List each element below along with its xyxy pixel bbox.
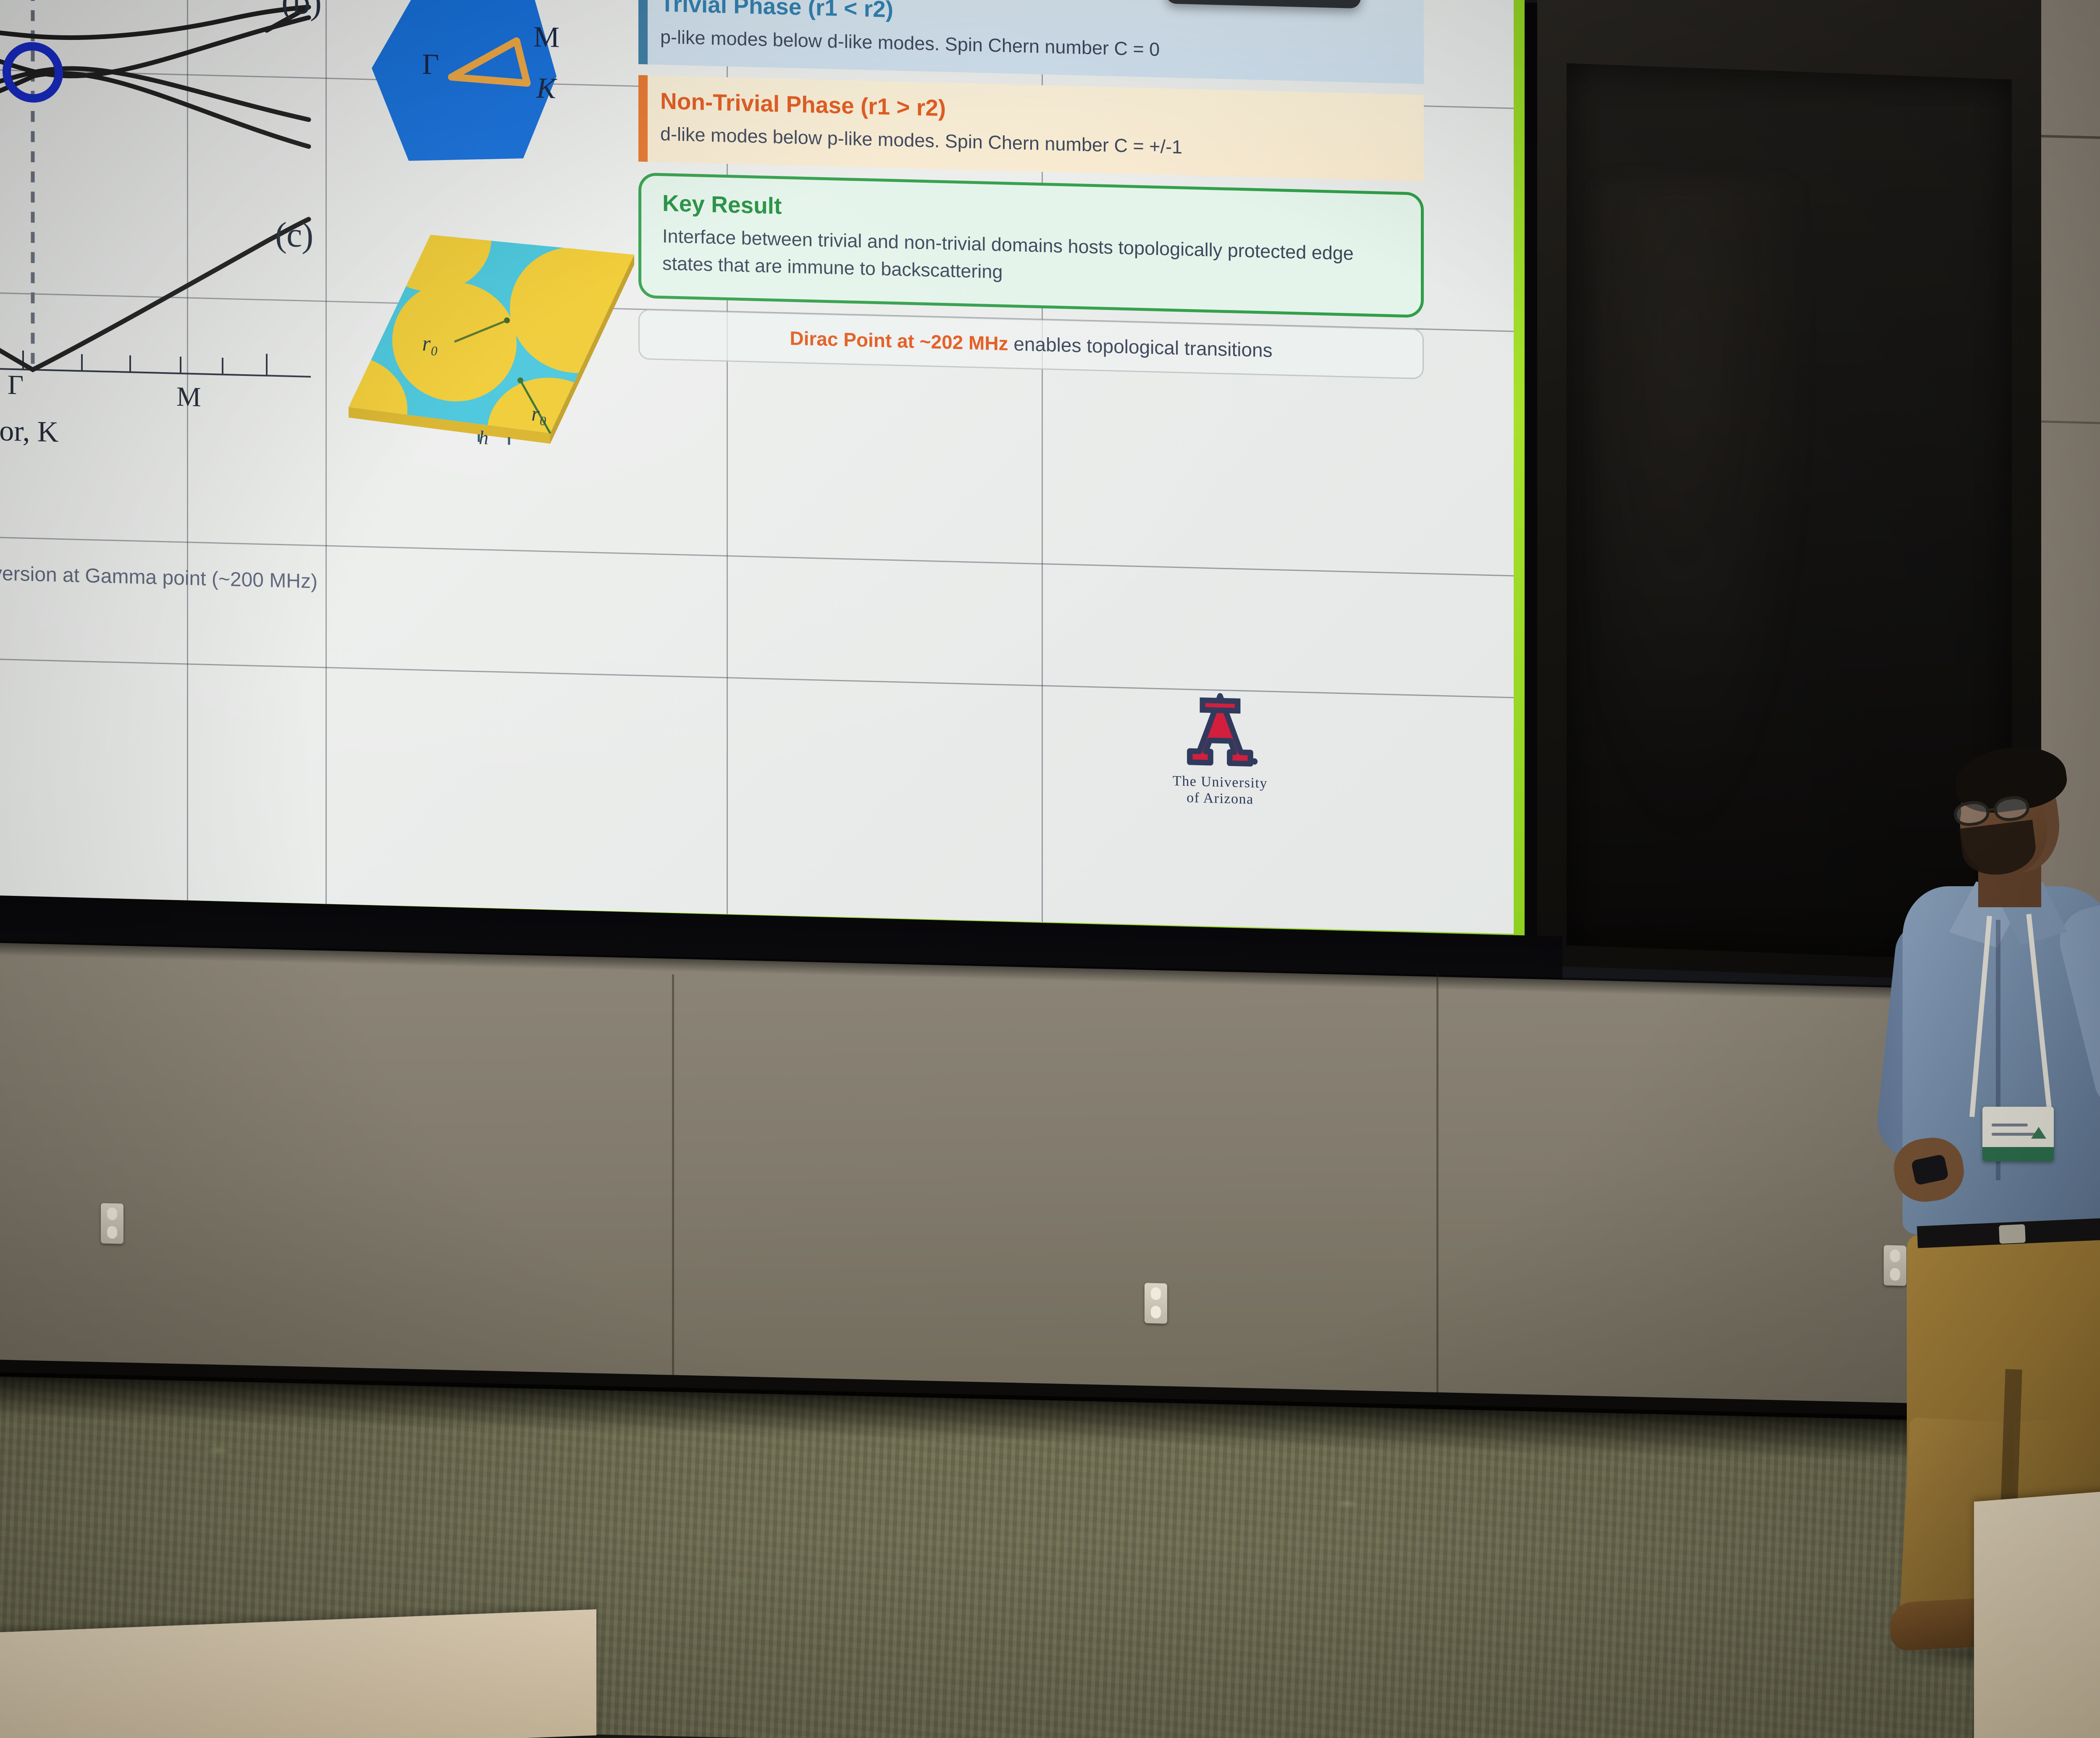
height-label-h: h [479,426,488,449]
power-outlet [1144,1283,1167,1323]
glasses-lens-left [1953,799,1990,828]
phase-summary-panels: Trivial Phase (r1 < r2) p-like modes bel… [638,0,1424,390]
table-foreground-left [0,1609,596,1738]
tick-label-m: M [176,381,201,413]
panel-b-tag: (b) [281,0,321,23]
brillouin-zone-diagram: Γ M K [372,0,590,174]
badge-text-line [1992,1133,2035,1136]
x-axis-title: Wave Vector, K [0,411,58,449]
key-result-panel: Key Result Interface between trivial and… [638,172,1424,318]
symmetry-point-gamma: Γ [422,48,439,82]
band-structure-plot [0,0,315,402]
dirac-note-highlight: Dirac Point at ~202 MHz [790,327,1008,354]
slide-accent-edge-right [1514,0,1525,945]
lower-wall-seam [672,974,674,1415]
participant-name-row: Kentaro Yumigeta [1175,0,1336,0]
badge-color-bar [1982,1147,2054,1161]
dirac-note-text: Dirac Point at ~202 MHz enables topologi… [656,323,1406,365]
university-logo: The University of Arizona [1151,688,1289,809]
dirac-note-rest: enables topological transitions [1008,332,1273,361]
slide-surface: Point Γ M Wave Vector, K (b) Γ M K (c) [0,0,1525,945]
badge-text-line [1992,1124,2028,1126]
figure-caption: tures showing p/d orbital inversion at G… [0,556,676,602]
power-outlet [101,1203,123,1244]
tick-label-gamma: Γ [8,369,24,402]
symmetry-point-m: M [533,20,559,55]
lower-wall-seam [1436,974,1438,1415]
wall-reflection-glow [1596,181,1814,853]
symmetry-point-k: K [536,72,556,106]
presenter-name-badge [1982,1107,2054,1161]
arizona-a-icon [1180,688,1260,770]
panel-seam [0,655,1525,698]
university-logo-text: The University of Arizona [1151,772,1289,809]
badge-logo-icon [2031,1127,2046,1139]
panel-seam [325,0,327,915]
trivial-phase-panel: Trivial Phase (r1 < r2) p-like modes bel… [638,0,1424,84]
presentation-screen[interactable]: Point Γ M Wave Vector, K (b) Γ M K (c) [0,0,1525,945]
table-foreground-right [1974,1472,2100,1738]
band-structure-figure: Point Γ M Wave Vector, K [0,0,315,503]
radius-label-r0-b: r₀ [531,401,547,426]
unit-cell-diagram: r₀ r₀ h [340,226,651,453]
participant-name: Kentaro Yumigeta [1193,0,1336,0]
presentation-room-photo: Point Γ M Wave Vector, K (b) Γ M K (c) [0,0,2100,1738]
nontrivial-phase-panel: Non-Trivial Phase (r1 > r2) d-like modes… [638,75,1424,181]
logo-line-2: of Arizona [1151,789,1289,809]
dirac-note-panel: Dirac Point at ~202 MHz enables topologi… [638,309,1424,379]
key-result-body: Interface between trivial and non-trivia… [662,222,1400,296]
unit-cell-render [340,226,651,453]
presenter-belt-buckle [1999,1224,2026,1244]
glasses-lens-right [1992,794,2030,823]
radius-label-r0-a: r₀ [422,331,438,357]
panel-c-tag: (c) [275,214,313,256]
